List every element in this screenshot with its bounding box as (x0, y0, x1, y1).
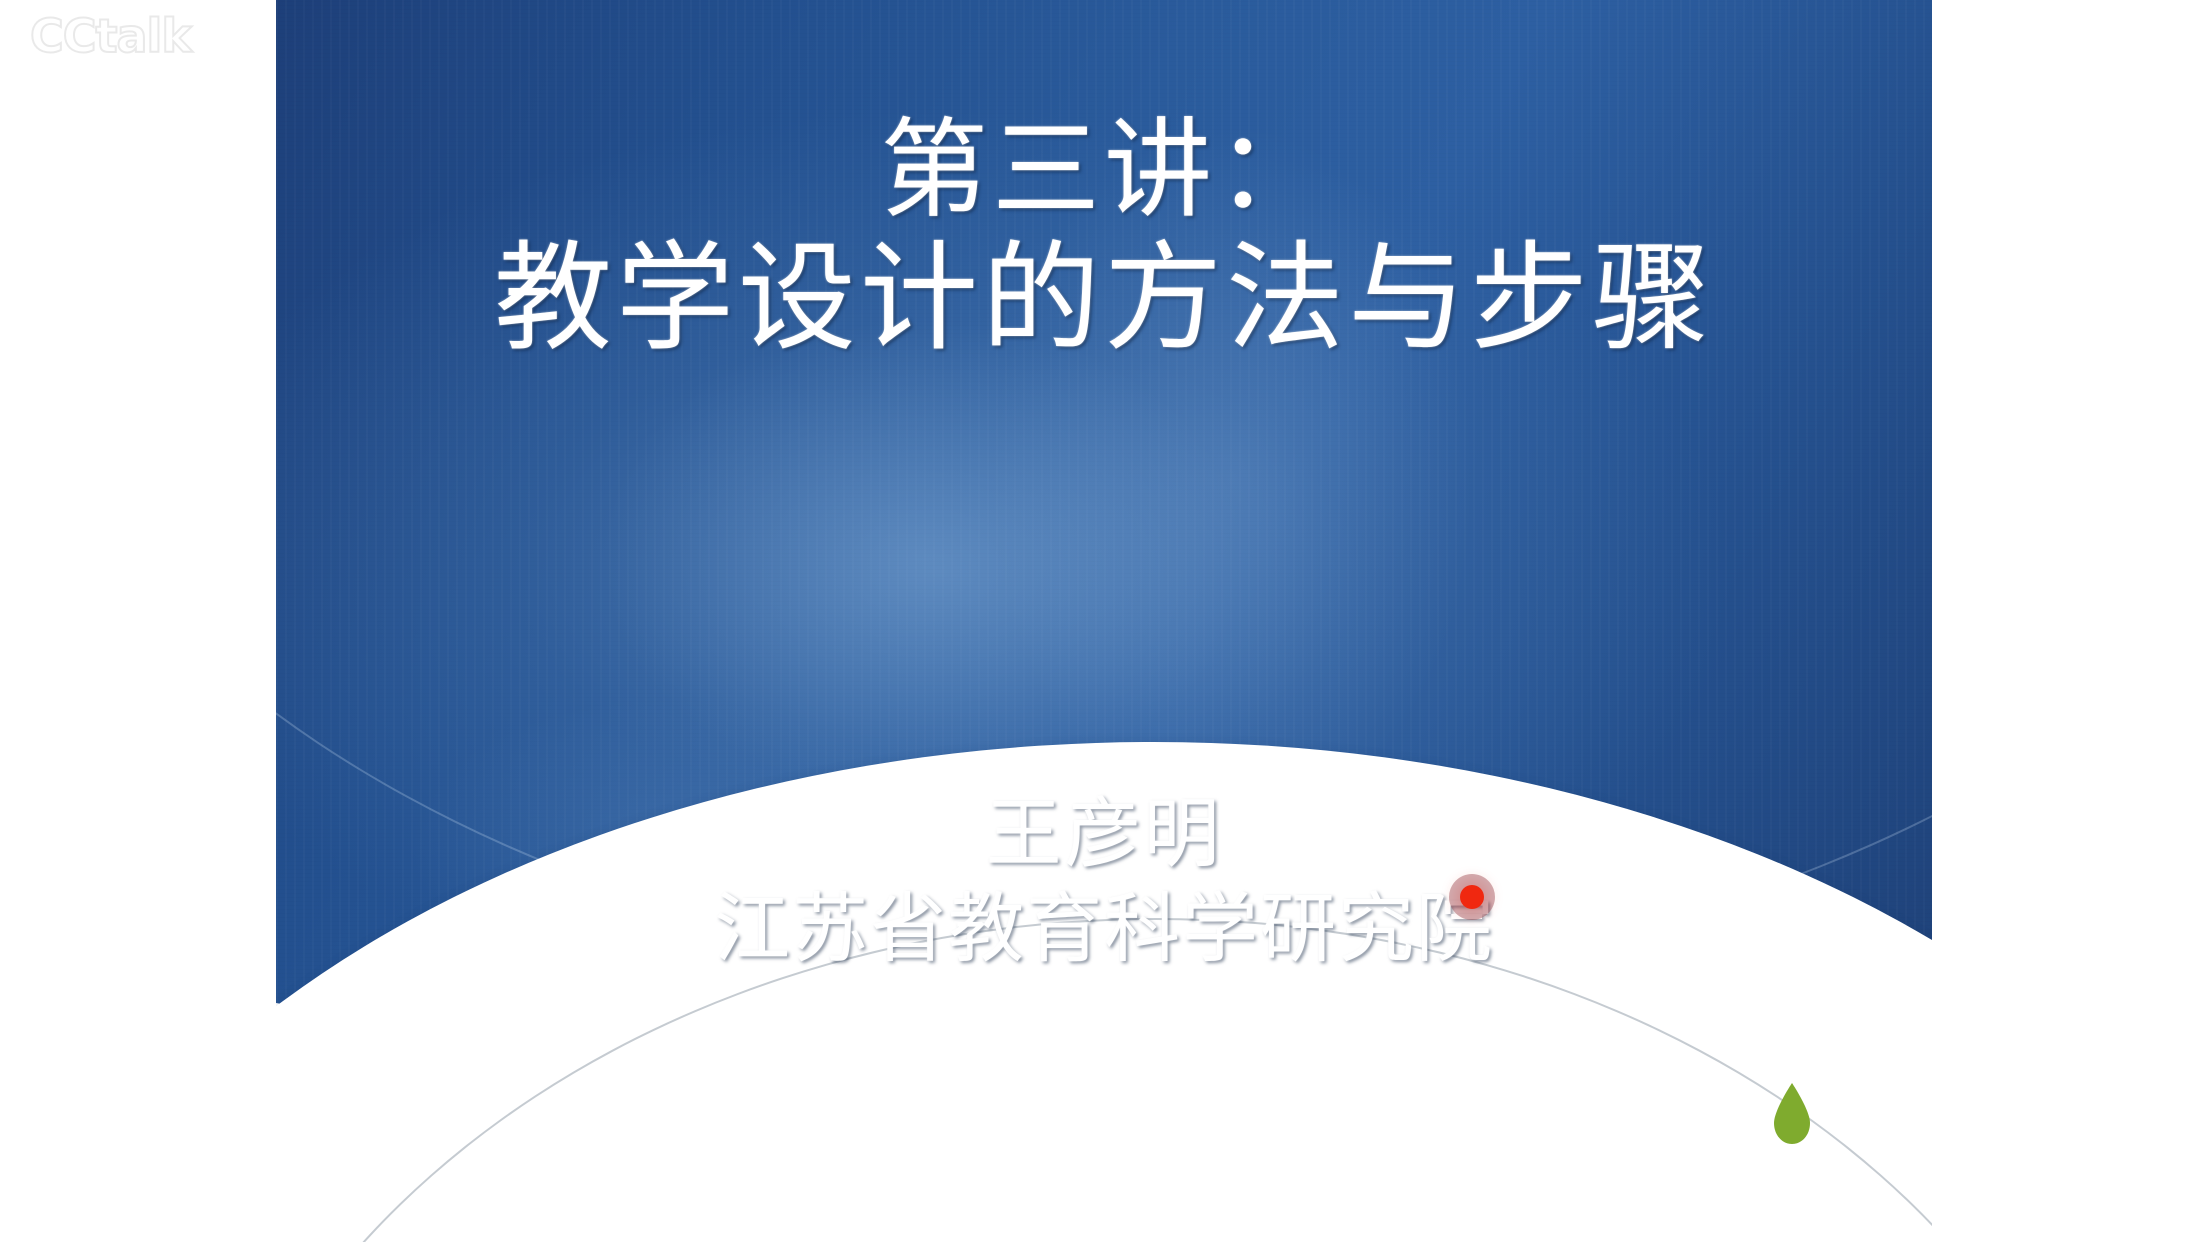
green-droplet-icon (1766, 1082, 1818, 1146)
slide-background-blue (276, 0, 1932, 1242)
cctalk-watermark: CCtalk (30, 6, 220, 66)
screenshot-page: CCtalk 第三讲： 教学设计的方法与步骤 王彦明 江苏省教育科学研究院 (0, 0, 2208, 1242)
red-laser-dot (1460, 885, 1484, 909)
presentation-slide: 第三讲： 教学设计的方法与步骤 王彦明 江苏省教育科学研究院 (276, 0, 1932, 1242)
